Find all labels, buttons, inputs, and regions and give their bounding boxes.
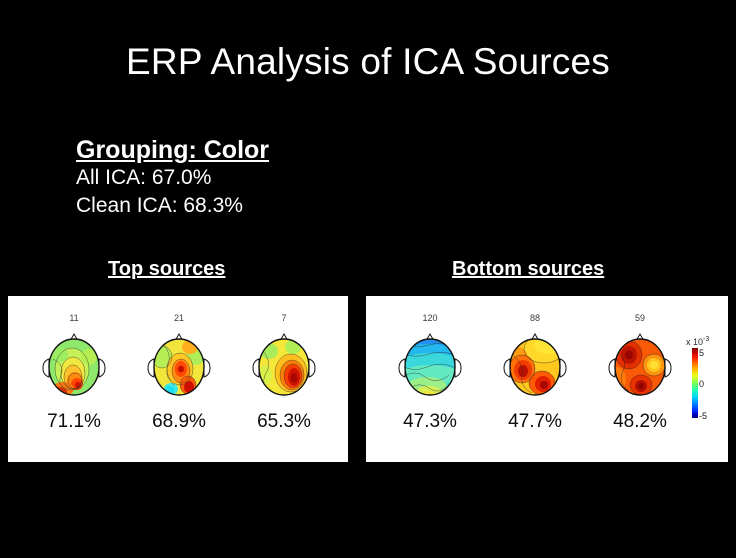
topomap-cell: 11 bbox=[22, 314, 126, 433]
section-header-top-sources: Top sources bbox=[108, 258, 225, 281]
topomap-cell: 88 bbox=[483, 314, 587, 433]
accuracy-label: 68.9% bbox=[127, 411, 231, 433]
component-number-label: 11 bbox=[22, 314, 126, 325]
stat-all-ica: All ICA: 67.0% bbox=[76, 164, 269, 192]
page-title: ERP Analysis of ICA Sources bbox=[0, 42, 736, 83]
scalp-topomap-icon bbox=[127, 329, 231, 403]
accuracy-label: 47.3% bbox=[378, 411, 482, 433]
topomap-cell: 21 bbox=[127, 314, 231, 433]
colorbar-tick-mid: 0 bbox=[699, 380, 704, 389]
scalp-topomap-icon bbox=[483, 329, 587, 403]
scalp-topomap-icon bbox=[588, 329, 692, 403]
grouping-block: Grouping: Color All ICA: 67.0% Clean ICA… bbox=[76, 136, 269, 219]
colorbar-tick-low: -5 bbox=[699, 412, 707, 421]
component-number-label: 59 bbox=[588, 314, 692, 325]
bottom-sources-panel: 120 bbox=[366, 296, 728, 462]
component-number-label: 21 bbox=[127, 314, 231, 325]
scalp-topomap-icon bbox=[378, 329, 482, 403]
slide-canvas: ERP Analysis of ICA Sources Grouping: Co… bbox=[0, 0, 736, 558]
component-number-label: 7 bbox=[232, 314, 336, 325]
top-sources-panel: 11 bbox=[8, 296, 348, 462]
colorbar: x 10-3 5 0 -5 bbox=[686, 336, 730, 428]
accuracy-label: 65.3% bbox=[232, 411, 336, 433]
scalp-topomap-icon bbox=[232, 329, 336, 403]
colorbar-exponent-power: -3 bbox=[703, 336, 709, 343]
grouping-heading: Grouping: Color bbox=[76, 136, 269, 164]
topomap-cell: 120 bbox=[378, 314, 482, 433]
stat-clean-ica: Clean ICA: 68.3% bbox=[76, 192, 269, 220]
accuracy-label: 48.2% bbox=[588, 411, 692, 433]
topomap-cell: 59 bbox=[588, 314, 692, 433]
component-number-label: 120 bbox=[378, 314, 482, 325]
colorbar-gradient-strip bbox=[692, 348, 698, 418]
colorbar-exponent-label: x 10-3 bbox=[686, 336, 709, 347]
topomap-cell: 7 bbox=[232, 314, 336, 433]
accuracy-label: 71.1% bbox=[22, 411, 126, 433]
component-number-label: 88 bbox=[483, 314, 587, 325]
colorbar-tick-high: 5 bbox=[699, 349, 704, 358]
accuracy-label: 47.7% bbox=[483, 411, 587, 433]
scalp-topomap-icon bbox=[22, 329, 126, 403]
colorbar-exponent-base: x 10 bbox=[686, 337, 703, 347]
section-header-bottom-sources: Bottom sources bbox=[452, 258, 604, 281]
